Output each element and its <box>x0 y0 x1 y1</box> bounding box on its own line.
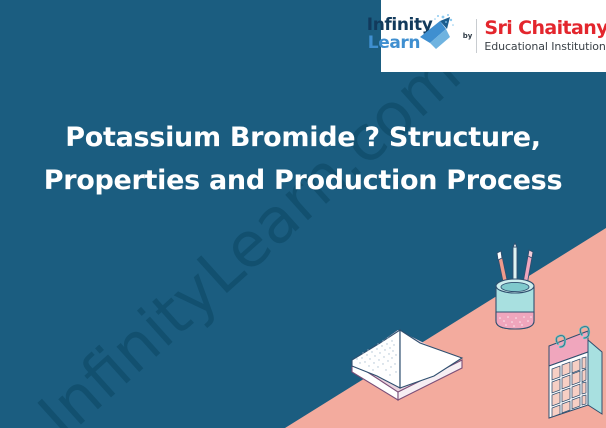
page-title-line-1: Potassium Bromide ? Structure, <box>14 116 592 159</box>
pencil-middle <box>513 243 517 295</box>
sri-chaitanya-title: Sri Chaitanya <box>484 19 606 38</box>
sri-chaitanya-logo[interactable]: Sri Chaitanya Educational Institutions <box>484 19 606 53</box>
desk-calendar-icon <box>549 327 602 418</box>
open-book-icon <box>352 330 462 400</box>
page-title: Potassium Bromide ? Structure, Propertie… <box>0 116 606 202</box>
pencil-cup-icon <box>496 243 534 329</box>
sri-chaitanya-subtitle: Educational Institutions <box>484 40 606 53</box>
pencil-right <box>521 250 533 296</box>
article-banner: InfinityLearn.com Infinity Learn <box>0 0 606 428</box>
logo-divider <box>476 19 477 53</box>
watermark-text: InfinityLearn.com <box>24 49 459 428</box>
infinity-learn-word-learn: Learn <box>368 35 420 52</box>
page-title-line-2: Properties and Production Process <box>14 159 592 202</box>
bird-arrow-icon <box>416 13 460 53</box>
pencil-left <box>497 251 510 296</box>
desk-surface <box>285 228 606 428</box>
brand-logo-box[interactable]: Infinity Learn by <box>381 0 606 72</box>
logo-by-label: by <box>463 32 473 40</box>
infinity-learn-logo[interactable]: Infinity Learn <box>367 13 459 59</box>
logo-connector: by <box>463 19 478 53</box>
